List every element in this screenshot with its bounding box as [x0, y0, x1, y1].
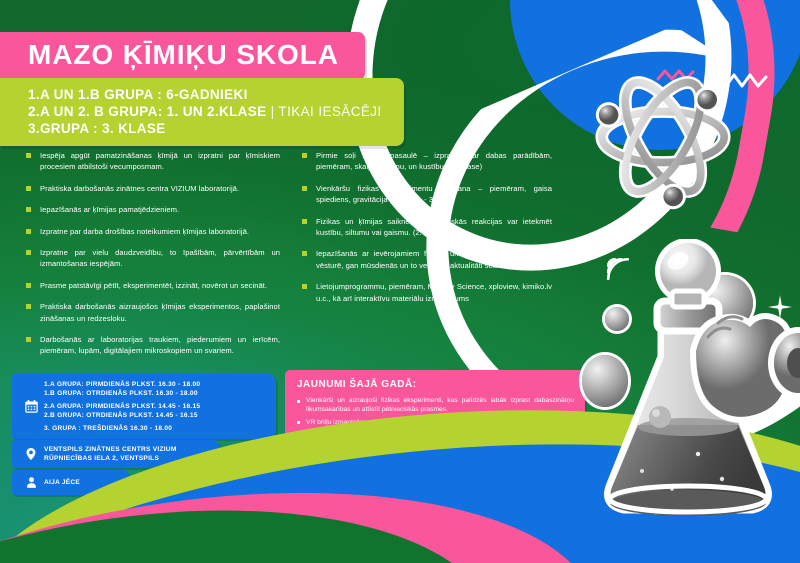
- news-heading: JAUNUMI ŠAJĀ GADĀ:: [297, 379, 574, 390]
- groups-band: 1.A UN 1.B GRUPA : 6-GADNIEKI 2.A UN 2. …: [0, 78, 404, 146]
- list-item: Iepazīšanās ar ķīmijas pamatjēdzieniem.: [26, 204, 280, 215]
- schedule-group-1: 1.A GRUPA: PIRMDIENĀS PLKST. 16.30 - 18.…: [44, 380, 200, 398]
- list-item: Izpratne par darba drošības noteikumiem …: [26, 226, 280, 237]
- location-tag: VENTSPILS ZINĀTNES CENTRS VIZIUM RŪPNIEC…: [12, 440, 220, 468]
- schedule-line: 1.B GRUPA: OTRDIENĀS PLKST. 16.30 - 18.0…: [44, 389, 200, 398]
- location-line-2: RŪPNIECĪBAS IELA 2, VENTSPILS: [44, 454, 177, 463]
- list-item: Praktiska darbošanās aizraujošos ķīmijas…: [26, 301, 280, 324]
- schedule-line: 2.B GRUPA: OTRDIENĀS PLKST. 14.45 - 16.1…: [44, 411, 200, 420]
- calendar-icon: [18, 399, 44, 414]
- list-item: Iespēja apgūt pamatzināšanas ķīmijā un i…: [26, 150, 280, 173]
- teacher-tag: AIJA JĒCE: [12, 470, 130, 495]
- list-item: Fizikas un ķīmijas saikne – kā ķīmiskās …: [302, 216, 552, 239]
- teacher-name: AIJA JĒCE: [44, 478, 80, 487]
- news-box: JAUNUMI ŠAJĀ GADĀ: Vienkārši un aizraujo…: [285, 370, 585, 465]
- groups-line-2-note: | TIKAI IESĀCĒJI: [271, 104, 382, 119]
- schedule-group-2: 2.A GRUPA: PIRMDIENĀS PLKST. 14.45 - 16.…: [44, 402, 200, 420]
- groups-line-2: 2.A UN 2. B GRUPA: 1. UN 2.KLASE | TIKAI…: [28, 103, 382, 120]
- list-item: Vienkārši un aizraujoši fizikas eksperim…: [297, 396, 574, 415]
- chemistry-topics-list: Iespēja apgūt pamatzināšanas ķīmijā un i…: [26, 150, 280, 357]
- list-item: Eksperimentēšana dabā.: [297, 443, 574, 452]
- schedule-tag: 1.A GRUPA: PIRMDIENĀS PLKST. 16.30 - 18.…: [12, 374, 276, 439]
- list-item: Izpratne par vielu daudzveidību, to īpaš…: [26, 247, 280, 270]
- schedule-line: 2.A GRUPA: PIRMDIENĀS PLKST. 14.45 - 16.…: [44, 402, 200, 411]
- schedule-text: 1.A GRUPA: PIRMDIENĀS PLKST. 16.30 - 18.…: [44, 380, 200, 433]
- left-bullet-column: Iespēja apgūt pamatzināšanas ķīmijā un i…: [26, 150, 280, 367]
- list-item: Iepazīšanās ar ievērojamiem fizikas un ķ…: [302, 248, 552, 271]
- location-text: VENTSPILS ZINĀTNES CENTRS VIZIUM RŪPNIEC…: [44, 445, 177, 463]
- list-item: Lietojumprogrammu, piemēram, Mystery Sci…: [302, 281, 552, 304]
- groups-line-2-main: 2.A UN 2. B GRUPA: 1. UN 2.KLASE: [28, 104, 267, 119]
- schedule-line: 3. GRUPA : TREŠDIENĀS 16.30 - 18.00: [44, 424, 200, 433]
- bullet-columns: Iespēja apgūt pamatzināšanas ķīmijā un i…: [26, 150, 556, 367]
- poster-canvas: MAZO ĶĪMIĶU SKOLA 1.A UN 1.B GRUPA : 6-G…: [0, 0, 800, 563]
- list-item: Praktiska darbošanās zinātnes centra VIZ…: [26, 183, 280, 194]
- location-pin-icon: [18, 446, 44, 462]
- physics-topics-list: Pirmie soļi fizikas pasaulē – izpratne p…: [302, 150, 552, 304]
- list-item: Prasme patstāvīgi pētīt, eksperimentēt, …: [26, 280, 280, 291]
- groups-line-1: 1.A UN 1.B GRUPA : 6-GADNIEKI: [28, 86, 382, 103]
- person-icon: [18, 475, 44, 490]
- location-line-1: VENTSPILS ZINĀTNES CENTRS VIZIUM: [44, 445, 177, 454]
- poster-title-band: MAZO ĶĪMIĶU SKOLA: [0, 32, 365, 80]
- news-list: Vienkārši un aizraujoši fizikas eksperim…: [297, 396, 574, 452]
- schedule-line: 1.A GRUPA: PIRMDIENĀS PLKST. 16.30 - 18.…: [44, 380, 200, 389]
- list-item: Pirmie soļi fizikas pasaulē – izpratne p…: [302, 150, 552, 173]
- list-item: Vienkāršu fizikas eksperimentu veikšana …: [302, 183, 552, 206]
- schedule-group-3: 3. GRUPA : TREŠDIENĀS 16.30 - 18.00: [44, 424, 200, 433]
- groups-line-3: 3.GRUPA : 3. KLASE: [28, 120, 382, 137]
- page-title: MAZO ĶĪMIĶU SKOLA: [28, 39, 339, 71]
- list-item: VR brilļu izmantošana atsevišķu temātu a…: [297, 418, 574, 427]
- list-item: Pulciņš 3.klases skolēniem: fizikas un ķ…: [297, 430, 574, 439]
- list-item: Darbošanās ar laboratorijas traukiem, pi…: [26, 334, 280, 357]
- right-bullet-column: Pirmie soļi fizikas pasaulē – izpratne p…: [302, 150, 552, 367]
